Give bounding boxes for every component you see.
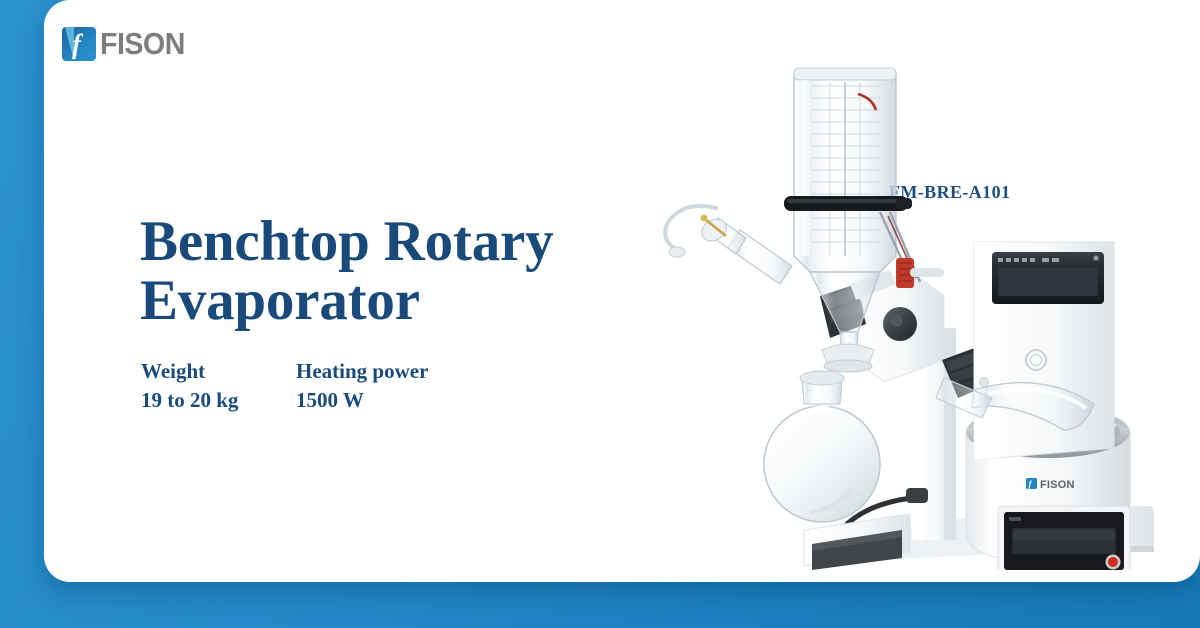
spec-list: Weight 19 to 20 kg Heating power 1500 W (141, 357, 428, 415)
spec-label: Heating power (296, 357, 428, 386)
product-banner: f FISON Benchtop Rotary Evaporator Weigh… (0, 0, 1200, 628)
evaporating-flask (764, 371, 880, 522)
headline-line-2: Evaporator (140, 269, 420, 332)
spec-value: 19 to 20 kg (141, 386, 296, 415)
brand-name: FISON (100, 26, 185, 62)
svg-text:FISON: FISON (1040, 479, 1075, 491)
cable-plug (906, 488, 928, 503)
spec-value: 1500 W (296, 386, 428, 415)
brand-logo[interactable]: f FISON (62, 26, 192, 62)
headline-line-1: Benchtop Rotary (140, 210, 553, 273)
fison-f-logo-icon: f (62, 27, 96, 61)
spec-item-weight: Weight 19 to 20 kg (141, 357, 296, 415)
content-card: f FISON Benchtop Rotary Evaporator Weigh… (44, 0, 1200, 582)
clamp-ring (784, 196, 912, 211)
product-image: f FISON (644, 60, 1200, 570)
page-title: Benchtop Rotary Evaporator (140, 213, 710, 330)
spec-item-heating-power: Heating power 1500 W (296, 357, 428, 415)
logo-letter-f: f (72, 27, 96, 61)
spec-label: Weight (141, 357, 296, 386)
vapour-duct (665, 206, 792, 284)
bath-control-panel (998, 506, 1130, 570)
control-unit (974, 242, 1114, 460)
